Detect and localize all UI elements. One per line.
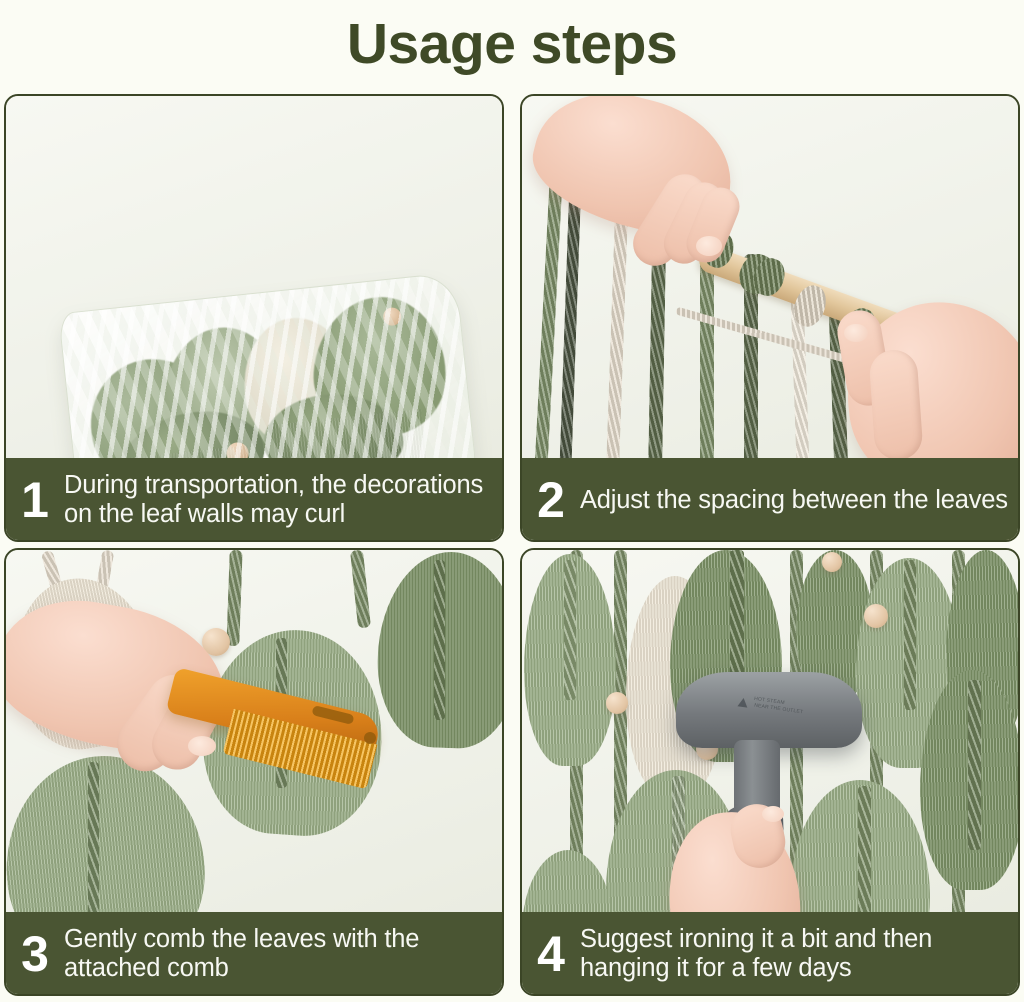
packed-leaf bbox=[164, 328, 284, 458]
packed-leaf bbox=[310, 293, 451, 440]
finger bbox=[868, 348, 924, 461]
fingernail bbox=[844, 324, 868, 342]
warning-triangle-icon bbox=[737, 697, 748, 707]
leaf-spine bbox=[904, 560, 916, 710]
wooden-bead bbox=[382, 307, 402, 327]
fingernail bbox=[762, 806, 784, 822]
comb-hole bbox=[364, 732, 376, 744]
step-caption-text-4: Suggest ironing it a bit and then hangin… bbox=[580, 925, 1010, 983]
fingernail bbox=[188, 736, 216, 756]
step-card-2[interactable]: 2 Adjust the spacing between the leaves bbox=[520, 94, 1020, 542]
leaf-spine bbox=[564, 560, 576, 700]
step-card-1[interactable]: 1 During transportation, the decorations… bbox=[4, 94, 504, 542]
step-caption-3: 3 Gently comb the leaves with the attach… bbox=[4, 912, 504, 996]
wooden-bead bbox=[606, 692, 628, 714]
leaf-spine bbox=[88, 762, 99, 922]
step-caption-text-3: Gently comb the leaves with the attached… bbox=[64, 925, 494, 983]
step-caption-4: 4 Suggest ironing it a bit and then hang… bbox=[520, 912, 1020, 996]
wooden-bead bbox=[822, 552, 842, 572]
fingernail bbox=[696, 236, 722, 256]
step-caption-text-1: During transportation, the decorations o… bbox=[64, 471, 494, 529]
page-title: Usage steps bbox=[0, 0, 1024, 90]
step-caption-text-2: Adjust the spacing between the leaves bbox=[580, 486, 1008, 515]
step-number-4: 4 bbox=[534, 929, 568, 979]
leaf-spine bbox=[434, 560, 445, 720]
usage-steps-grid: 1 During transportation, the decorations… bbox=[4, 94, 1020, 998]
step-number-3: 3 bbox=[18, 929, 52, 979]
leaf-spine bbox=[968, 680, 981, 850]
packed-leaf-cream bbox=[233, 309, 366, 455]
step-card-4[interactable]: HOT STEAM NEAR THE OUTLET 4 Suggest iron… bbox=[520, 548, 1020, 996]
step-number-1: 1 bbox=[18, 475, 52, 525]
step-caption-1: 1 During transportation, the decorations… bbox=[4, 458, 504, 542]
step-number-2: 2 bbox=[534, 475, 568, 525]
wooden-bead bbox=[864, 604, 888, 628]
step-caption-2: 2 Adjust the spacing between the leaves bbox=[520, 458, 1020, 542]
step-card-3[interactable]: 3 Gently comb the leaves with the attach… bbox=[4, 548, 504, 996]
